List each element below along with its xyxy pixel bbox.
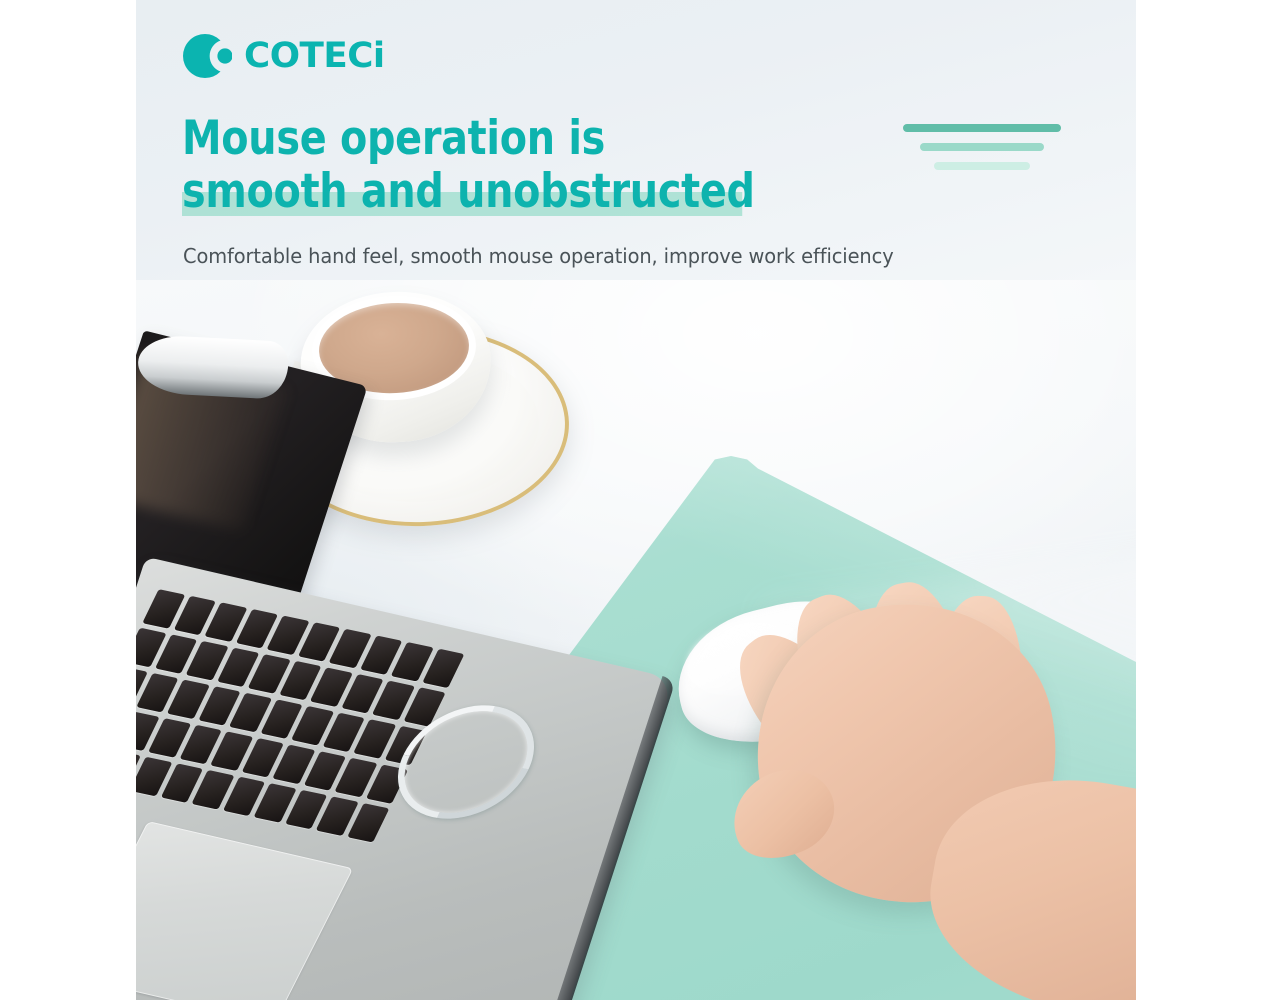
laptop-trackpad [136,821,353,1000]
headline-line-1: Mouse operation is [182,112,915,165]
coteci-circle-mark-icon [182,33,232,79]
brand-logo[interactable]: COTECi [182,31,382,81]
deco-bar-2 [920,143,1044,151]
headline: Mouse operation is smooth and unobstruct… [182,112,962,218]
deco-bar-3 [934,162,1030,170]
headline-line-2-text: smooth and unobstructed [182,164,755,219]
product-photo [136,276,1136,1000]
deco-bar-1 [903,124,1061,132]
decorative-bars [902,124,1062,170]
hand [721,576,1136,1000]
header-zone: COTECi Mouse operation is smooth and uno… [136,0,1136,280]
headline-line-2: smooth and unobstructed [182,165,915,218]
product-banner-page: COTECi Mouse operation is smooth and uno… [0,0,1271,1000]
banner-content-area: COTECi Mouse operation is smooth and uno… [136,0,1136,1000]
headline-line-1-text: Mouse operation is [182,111,605,166]
subtitle: Comfortable hand feel, smooth mouse oper… [183,243,894,269]
brand-name: COTECi [244,39,385,74]
